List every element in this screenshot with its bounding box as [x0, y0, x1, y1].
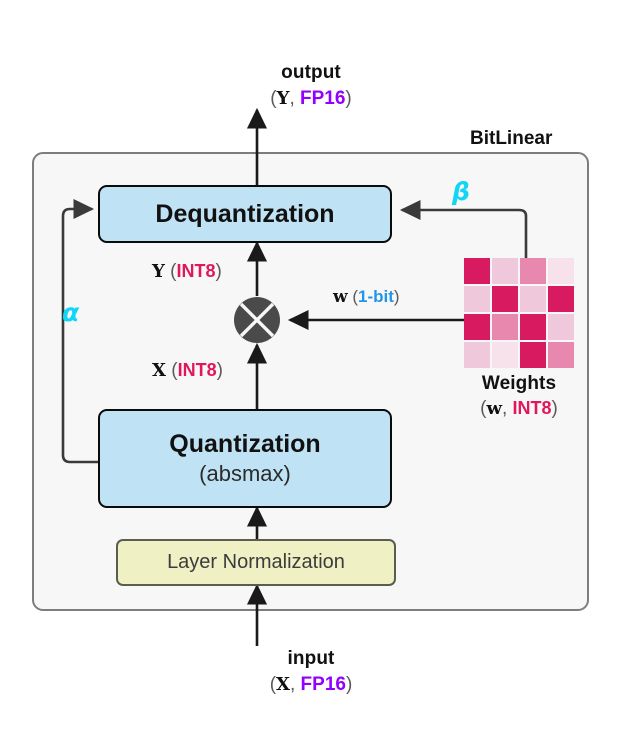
comma: , [290, 674, 301, 695]
output-var: Y [277, 88, 290, 109]
paren-close: ) [552, 398, 558, 419]
dequantization-text: Dequantization [100, 187, 390, 241]
alpha-symbol: α [62, 298, 79, 328]
y-var: Y [152, 261, 165, 282]
weight-cell [548, 286, 574, 312]
weight-cell [464, 314, 490, 340]
x-dtype: INT8 [178, 360, 217, 380]
bitlinear-title: BitLinear [470, 128, 552, 150]
quantization-text: Quantization (absmax) [100, 411, 390, 506]
layernorm-title: Layer Normalization [167, 551, 345, 574]
x-var: X [152, 360, 166, 381]
input-title: input [0, 648, 622, 670]
paren-close: ) [345, 88, 351, 109]
dequantization-title: Dequantization [155, 200, 334, 229]
weight-cell [548, 342, 574, 368]
weight-cell [548, 258, 574, 284]
weights-var: w [486, 398, 502, 419]
weight-cell [464, 286, 490, 312]
beta-symbol: β [452, 177, 470, 207]
weight-cell [464, 258, 490, 284]
paren-open: ( [165, 261, 177, 282]
input-dtype: FP16 [301, 674, 346, 695]
weight-cell [492, 342, 518, 368]
weight-cell [464, 342, 490, 368]
output-label-group: output (Y, FP16) [0, 62, 622, 111]
diagram-canvas: output (Y, FP16) BitLinear [0, 0, 622, 752]
weights-dtype: INT8 [513, 398, 552, 418]
weight-cell [492, 258, 518, 284]
paren-close: ) [215, 261, 221, 282]
edge-label-w-1bit: w (1-bit) [333, 287, 400, 308]
comma: , [289, 88, 300, 109]
paren-close: ) [394, 287, 400, 306]
paren-open: ( [348, 287, 358, 306]
weight-cell [492, 286, 518, 312]
output-title: output [0, 62, 622, 84]
input-var: X [276, 674, 290, 695]
weight-cell [548, 314, 574, 340]
output-dtype: FP16 [300, 88, 345, 109]
input-dtype-line: (X, FP16) [0, 674, 622, 696]
quantization-block[interactable]: Quantization (absmax) [98, 409, 392, 508]
paren-close: ) [217, 360, 223, 381]
comma: , [502, 398, 513, 419]
w-dtype: 1-bit [358, 287, 394, 306]
edge-label-y-int8: Y (INT8) [152, 261, 222, 283]
weight-cell [520, 314, 546, 340]
weight-cell [492, 314, 518, 340]
weight-cell [520, 286, 546, 312]
quantization-subtitle: (absmax) [199, 461, 291, 487]
quantization-title: Quantization [169, 430, 320, 459]
weights-title: Weights [444, 373, 594, 395]
weight-cell [520, 258, 546, 284]
w-var: w [333, 287, 348, 307]
layernorm-block[interactable]: Layer Normalization [116, 539, 396, 586]
weights-matrix [464, 258, 574, 368]
input-label-group: input (X, FP16) [0, 648, 622, 697]
y-dtype: INT8 [176, 261, 215, 281]
weight-cell [520, 342, 546, 368]
layernorm-text: Layer Normalization [118, 541, 394, 584]
weights-dtype-line: (w, INT8) [444, 398, 594, 420]
edge-label-x-int8: X (INT8) [152, 360, 223, 382]
output-dtype-line: (Y, FP16) [0, 88, 622, 110]
dequantization-block[interactable]: Dequantization [98, 185, 392, 243]
paren-close: ) [346, 674, 352, 695]
weights-label-group: Weights (w, INT8) [444, 373, 594, 421]
paren-open: ( [166, 360, 178, 381]
